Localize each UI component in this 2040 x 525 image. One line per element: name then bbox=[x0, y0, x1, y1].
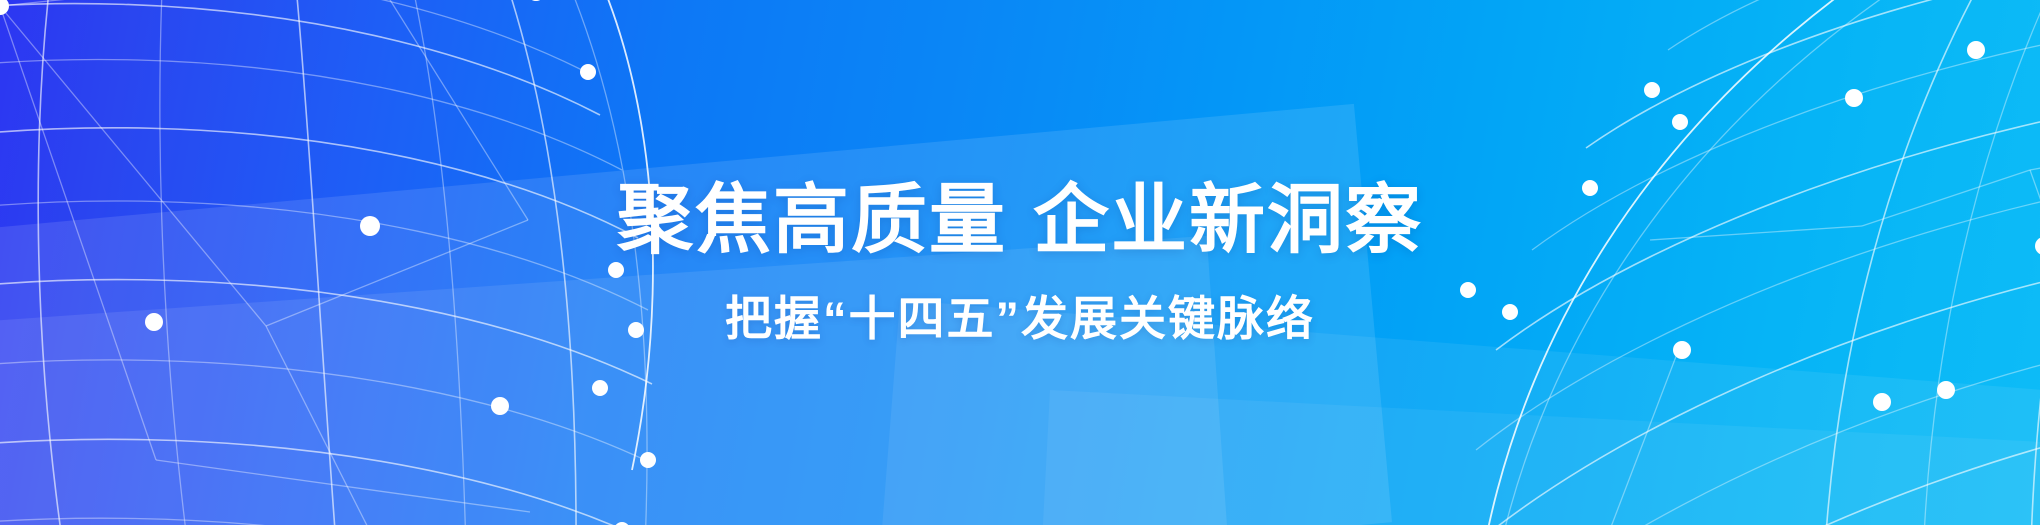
banner-copy: 聚焦高质量企业新洞察 把握“十四五”发展关键脉络 bbox=[0, 0, 2040, 525]
headline-part-2: 企业新洞察 bbox=[1033, 178, 1423, 263]
banner-subheadline: 把握“十四五”发展关键脉络 bbox=[725, 295, 1315, 342]
headline-part-1: 聚焦高质量 bbox=[617, 178, 1007, 263]
banner-headline: 聚焦高质量企业新洞察 bbox=[617, 183, 1423, 261]
hero-banner: 聚焦高质量企业新洞察 把握“十四五”发展关键脉络 bbox=[0, 0, 2040, 525]
